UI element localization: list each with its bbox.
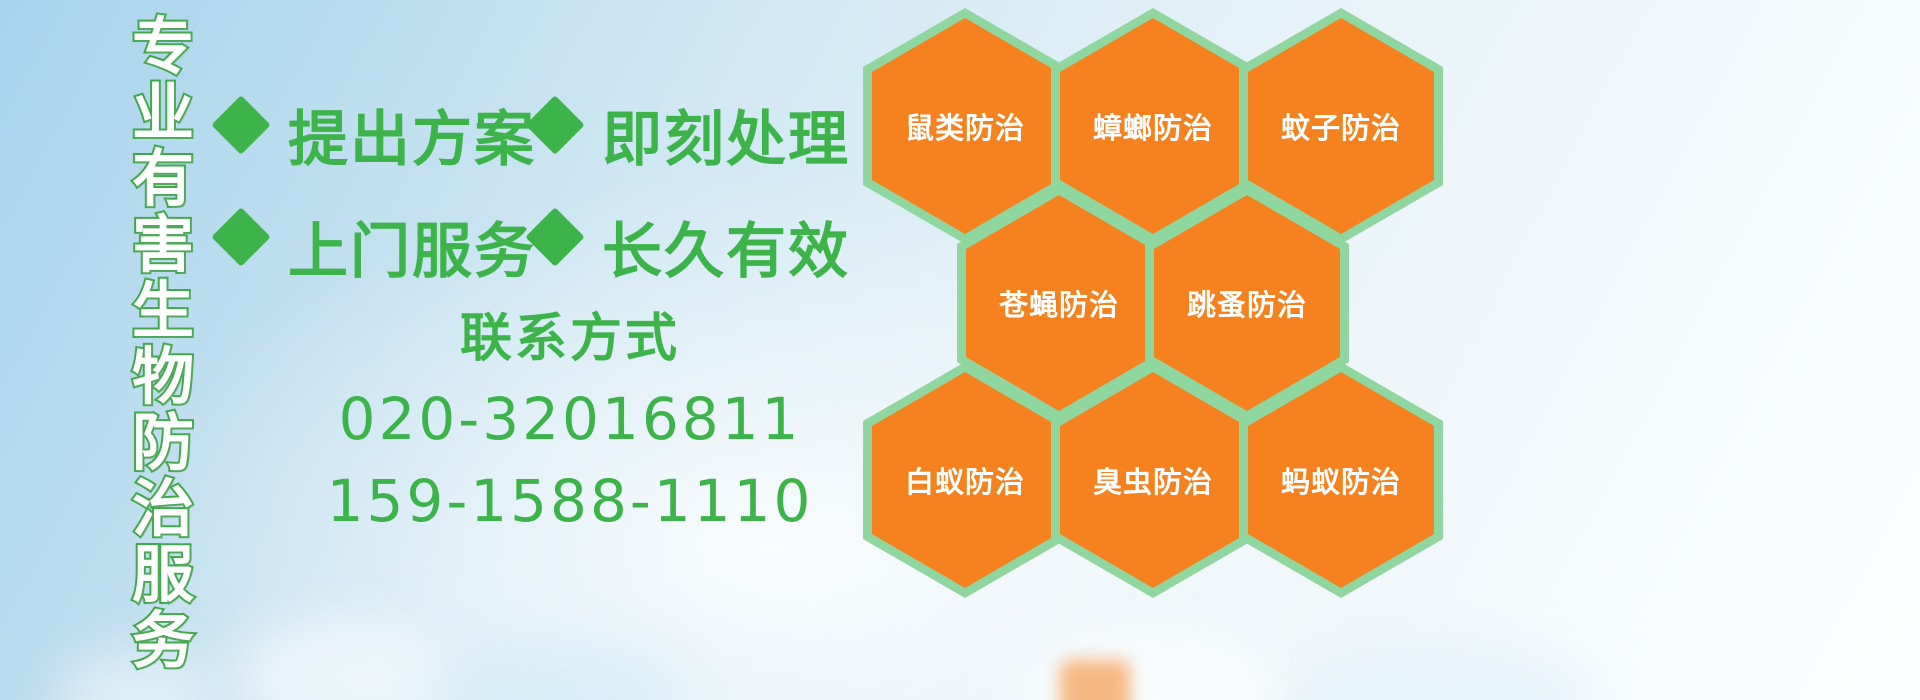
hex-label: 鼠类防治	[905, 105, 1025, 147]
hex-inner: 白蚁防治	[872, 372, 1058, 588]
feature-label-propose-plan: 提出方案	[270, 91, 536, 178]
vertical-headline-char: 治	[132, 476, 194, 542]
hex-label: 蟑螂防治	[1093, 105, 1213, 147]
feature-row: 上门服务 长久有效	[250, 190, 890, 302]
hex-inner: 跳蚤防治	[1154, 195, 1340, 411]
feature-label-onsite-service: 上门服务	[270, 203, 536, 290]
vertical-headline-char: 有	[132, 146, 194, 212]
vertical-headline-char: 服	[132, 542, 194, 608]
vertical-headline-char: 害	[132, 212, 194, 278]
feature-list: 提出方案 即刻处理 上门服务 长久有效	[250, 78, 890, 302]
hex-label: 臭虫防治	[1093, 459, 1213, 501]
vertical-headline: 专 业 有 害 生 物 防 治 服 务	[108, 14, 218, 686]
background-blob	[430, 640, 690, 700]
feature-row: 提出方案 即刻处理	[250, 78, 890, 190]
background-blob	[230, 620, 450, 700]
hex-label: 蚊子防治	[1281, 105, 1401, 147]
phone-landline[interactable]: 020-32016811	[250, 378, 890, 460]
hex-label: 苍蝇防治	[999, 282, 1119, 324]
contact-title: 联系方式	[250, 300, 890, 378]
vertical-headline-char: 务	[132, 608, 194, 674]
hex-inner: 苍蝇防治	[966, 195, 1152, 411]
vertical-headline-char: 专	[132, 14, 194, 80]
pest-control-banner: 专 业 有 害 生 物 防 治 服 务 提出方案 即刻处理 上门服务 长久有效 …	[0, 0, 1920, 700]
hex-inner: 蚂蚁防治	[1248, 372, 1434, 588]
vertical-headline-char: 物	[132, 344, 194, 410]
hex-inner: 蟑螂防治	[1060, 18, 1246, 234]
hex-inner: 蚊子防治	[1248, 18, 1434, 234]
hex-label: 跳蚤防治	[1187, 282, 1307, 324]
hex-inner: 鼠类防治	[872, 18, 1058, 234]
phone-mobile[interactable]: 159-1588-1110	[250, 460, 890, 542]
vertical-headline-char: 防	[132, 410, 194, 476]
contact-block: 联系方式 020-32016811 159-1588-1110	[250, 300, 890, 542]
feature-label-immediate-treatment: 即刻处理	[584, 91, 850, 178]
hex-inner: 臭虫防治	[1060, 372, 1246, 588]
hex-label: 蚂蚁防治	[1281, 459, 1401, 501]
feature-label-long-lasting: 长久有效	[584, 203, 850, 290]
hex-label: 白蚁防治	[905, 459, 1025, 501]
service-honeycomb: 鼠类防治 蟑螂防治 蚊子防治 苍蝇防治 跳蚤防治 白蚁防治	[855, 0, 1495, 700]
vertical-headline-char: 业	[132, 80, 194, 146]
vertical-headline-char: 生	[132, 278, 194, 344]
